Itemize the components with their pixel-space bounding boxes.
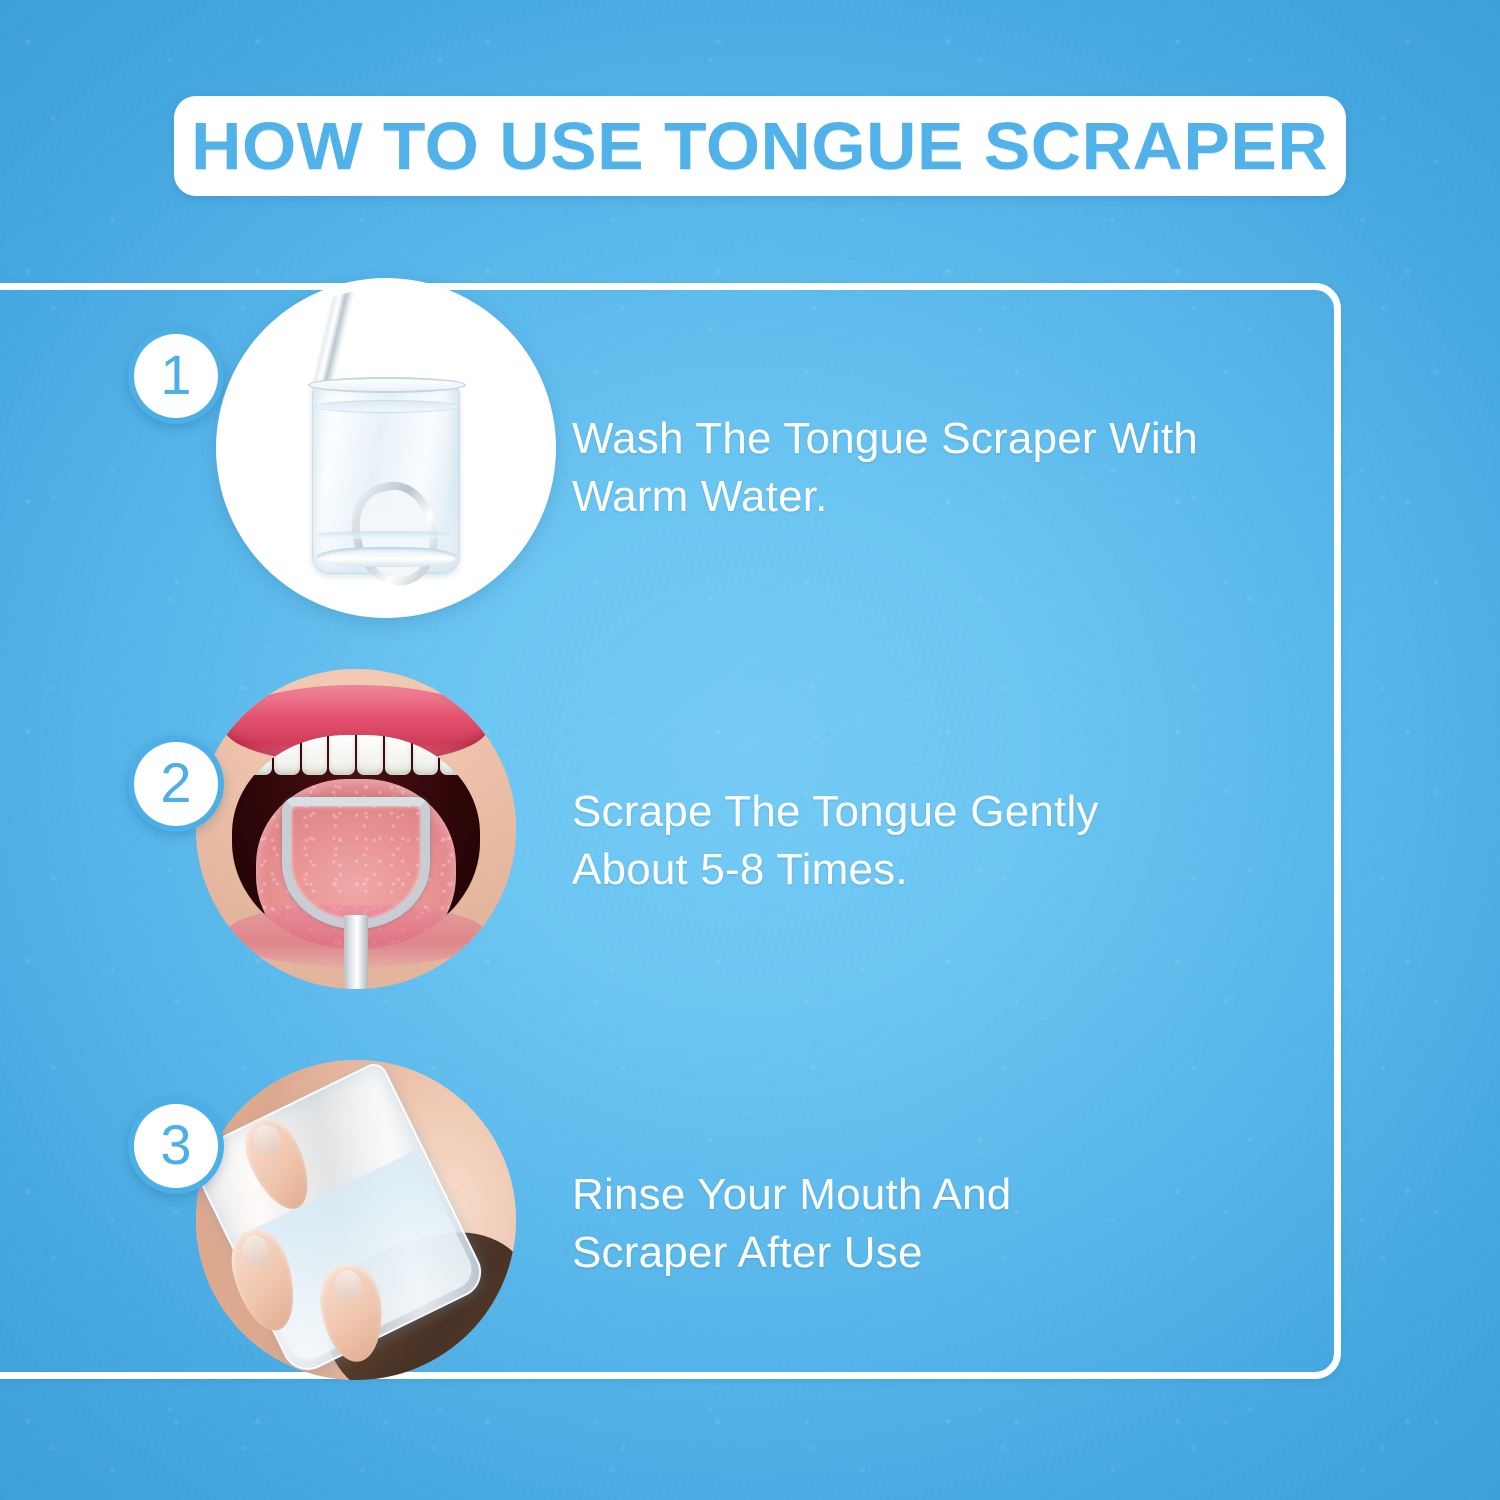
step-2-number-badge: 2 bbox=[128, 736, 224, 832]
title-banner: HOW TO USE TONGUE SCRAPER bbox=[174, 96, 1346, 196]
step-2-image-mouth-with-tongue-scraper bbox=[196, 669, 516, 989]
tongue-scraper-on-tongue bbox=[282, 797, 430, 987]
water-glass-illustration bbox=[312, 384, 460, 574]
scraper-handle-icon bbox=[344, 915, 368, 989]
scraper-loop-icon bbox=[282, 797, 430, 929]
teeth-row bbox=[246, 735, 466, 775]
glass-base bbox=[317, 547, 457, 567]
step-3-caption: Rinse Your Mouth And Scraper After Use bbox=[572, 1166, 1192, 1282]
fingernail bbox=[249, 1120, 285, 1158]
step-1-number-badge: 1 bbox=[128, 328, 224, 424]
step-3-number-badge: 3 bbox=[128, 1098, 224, 1194]
step-2-caption: Scrape The Tongue Gently About 5-8 Times… bbox=[572, 783, 1252, 899]
step-2-number: 2 bbox=[160, 755, 191, 811]
step-1-caption: Wash The Tongue Scraper With Warm Water. bbox=[572, 410, 1292, 526]
step-3-image-person-rinsing-mouth bbox=[196, 1060, 516, 1380]
glass-rim bbox=[308, 377, 466, 393]
step-3-number: 3 bbox=[160, 1117, 191, 1173]
step-1-image-glass-of-water-with-tongue-scraper bbox=[226, 288, 546, 608]
water-surface bbox=[315, 400, 459, 413]
fingernail bbox=[333, 1269, 363, 1302]
page-title: HOW TO USE TONGUE SCRAPER bbox=[191, 108, 1328, 185]
glass-waterline bbox=[315, 531, 459, 539]
fingernail bbox=[239, 1232, 272, 1268]
step-1-number: 1 bbox=[160, 347, 191, 403]
